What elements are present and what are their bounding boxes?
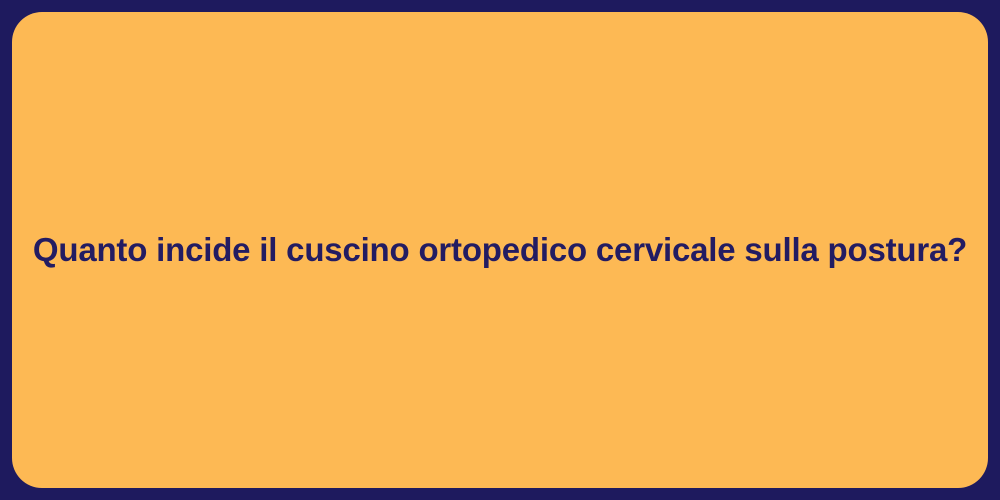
question-card-panel: Quanto incide il cuscino ortopedico cerv… bbox=[12, 12, 988, 488]
question-title: Quanto incide il cuscino ortopedico cerv… bbox=[0, 229, 1000, 270]
question-card-canvas: Quanto incide il cuscino ortopedico cerv… bbox=[0, 0, 1000, 500]
